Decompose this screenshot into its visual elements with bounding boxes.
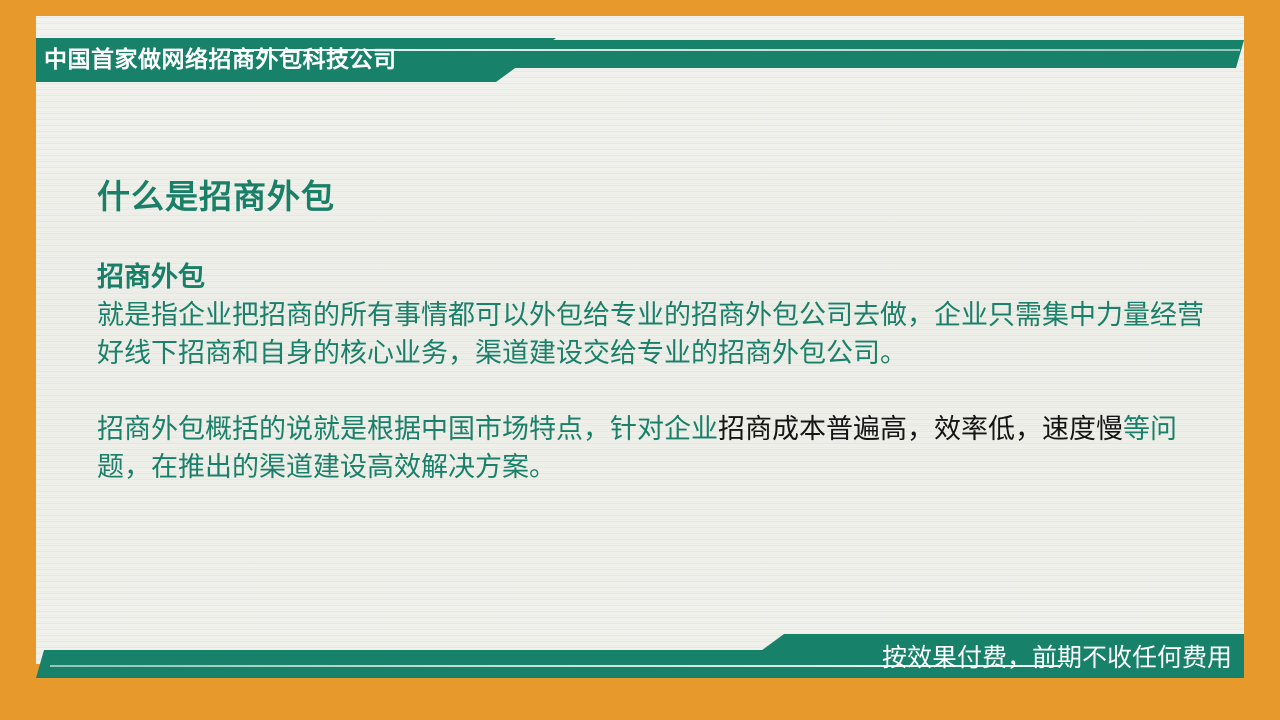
page-title: 什么是招商外包	[97, 176, 335, 218]
footer-banner-tagline: 按效果付费，前期不收任何费用	[882, 641, 1232, 675]
presentation-slide: 中国首家做网络招商外包科技公司 什么是招商外包 招商外包 就是指企业把招商的所有…	[0, 0, 1280, 720]
body-content: 招商外包 就是指企业把招商的所有事情都可以外包给专业的招商外包公司去做，企业只需…	[97, 258, 1227, 486]
header-banner-title: 中国首家做网络招商外包科技公司	[44, 43, 397, 75]
paragraph-2-segment-lead: 招商外包概括的说就是根据中国市场特点，针对企业	[97, 414, 718, 444]
body-subtitle: 招商外包	[97, 258, 1227, 296]
paragraph-2-segment-emphasis: 招商成本普遍高，效率低，速度慢	[718, 414, 1123, 444]
body-paragraph-2: 招商外包概括的说就是根据中国市场特点，针对企业招商成本普遍高，效率低，速度慢等问…	[97, 372, 1227, 486]
body-paragraph-1: 就是指企业把招商的所有事情都可以外包给专业的招商外包公司去做，企业只需集中力量经…	[97, 296, 1227, 372]
slide-footer-banner: 按效果付费，前期不收任何费用	[36, 634, 1244, 680]
slide-header-banner: 中国首家做网络招商外包科技公司	[36, 38, 1244, 82]
